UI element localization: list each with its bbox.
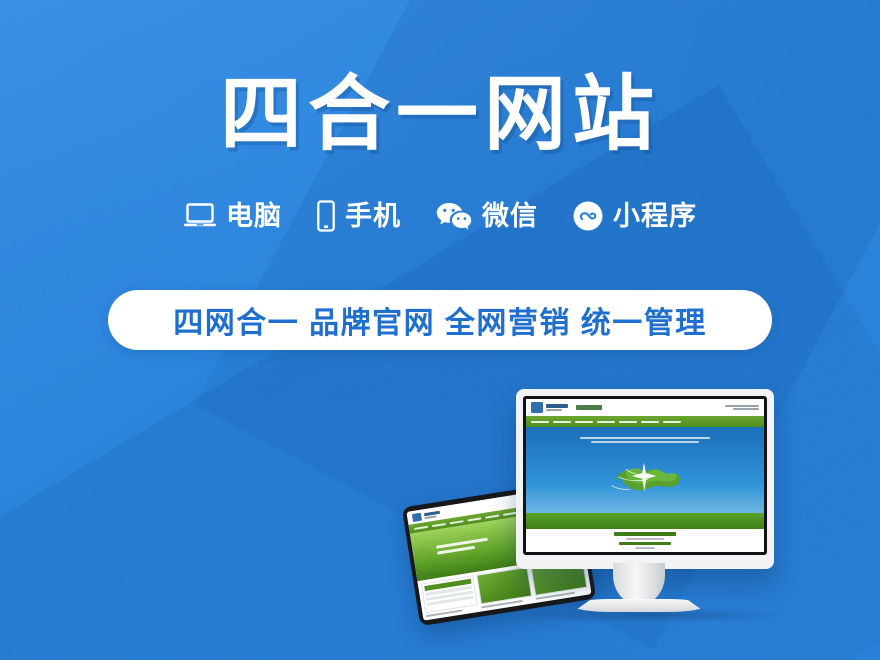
mini-program-icon [572, 200, 604, 232]
channel-label: 电脑 [226, 203, 282, 230]
nav-item[interactable] [531, 421, 549, 423]
nav-item[interactable] [503, 511, 517, 515]
wechat-icon [435, 201, 473, 231]
channel-label: 微信 [482, 203, 538, 230]
site-hero-banner [526, 427, 764, 529]
channel-item-desktop[interactable]: 电脑 [183, 202, 282, 230]
product-thumb [421, 575, 478, 613]
laptop-icon [183, 202, 217, 230]
contact-line [725, 405, 759, 407]
site-slogan [576, 405, 602, 410]
site-nav[interactable] [526, 416, 764, 427]
hero-headline [555, 437, 736, 443]
desktop-monitor [516, 389, 774, 569]
nav-item[interactable] [641, 421, 659, 423]
nav-item[interactable] [575, 421, 593, 423]
contact-line [733, 408, 759, 410]
mobile-phone-icon [316, 200, 336, 232]
footer-line [626, 538, 664, 540]
site-footer [526, 529, 764, 552]
world-map-graphic [552, 450, 738, 507]
hero-ground [526, 513, 764, 529]
nav-item[interactable] [467, 517, 481, 521]
logo-mark [531, 402, 543, 413]
product-card[interactable] [421, 575, 478, 617]
logo-wordmark [424, 510, 441, 518]
nav-item[interactable] [414, 525, 428, 529]
monitor-stand-neck [613, 563, 665, 605]
tagline-pill: 四网合一 品牌官网 全网营销 统一管理 [108, 290, 772, 350]
monitor-screen [526, 399, 764, 552]
channel-label: 小程序 [613, 203, 697, 230]
nav-item[interactable] [485, 514, 499, 518]
nav-item[interactable] [597, 421, 615, 423]
channel-label: 手机 [345, 203, 401, 230]
footer-line [635, 547, 654, 549]
product-card[interactable] [476, 567, 533, 609]
tablet-hero-text [436, 538, 489, 555]
logo-wordmark [546, 404, 568, 411]
nav-item[interactable] [432, 522, 446, 526]
logo-line [546, 404, 568, 408]
monitor-bezel [523, 396, 767, 555]
hero-line [591, 441, 700, 443]
nav-item[interactable] [450, 520, 464, 524]
product-thumb [476, 567, 533, 605]
footer-title [614, 532, 676, 536]
logo-mark [412, 512, 422, 521]
channel-list: 电脑 手机 微信 [0, 200, 880, 232]
nav-item[interactable] [663, 421, 681, 423]
site-logo [531, 402, 602, 413]
promo-banner: 四合一网站 电脑 手机 [0, 0, 880, 660]
monitor-stand-base [573, 599, 705, 612]
channel-item-miniprogram[interactable]: 小程序 [572, 200, 697, 232]
site-header [526, 399, 764, 416]
nav-item[interactable] [619, 421, 637, 423]
nav-item[interactable] [553, 421, 571, 423]
hero-line [580, 437, 710, 439]
page-title: 四合一网站 [0, 74, 880, 156]
tagline-text: 四网合一 品牌官网 全网营销 统一管理 [173, 298, 707, 342]
logo-line [546, 409, 562, 411]
channel-item-mobile[interactable]: 手机 [316, 200, 401, 232]
footer-line [619, 542, 671, 545]
device-mockup-group [398, 385, 880, 660]
channel-item-wechat[interactable]: 微信 [435, 201, 538, 231]
site-contact [725, 405, 759, 410]
